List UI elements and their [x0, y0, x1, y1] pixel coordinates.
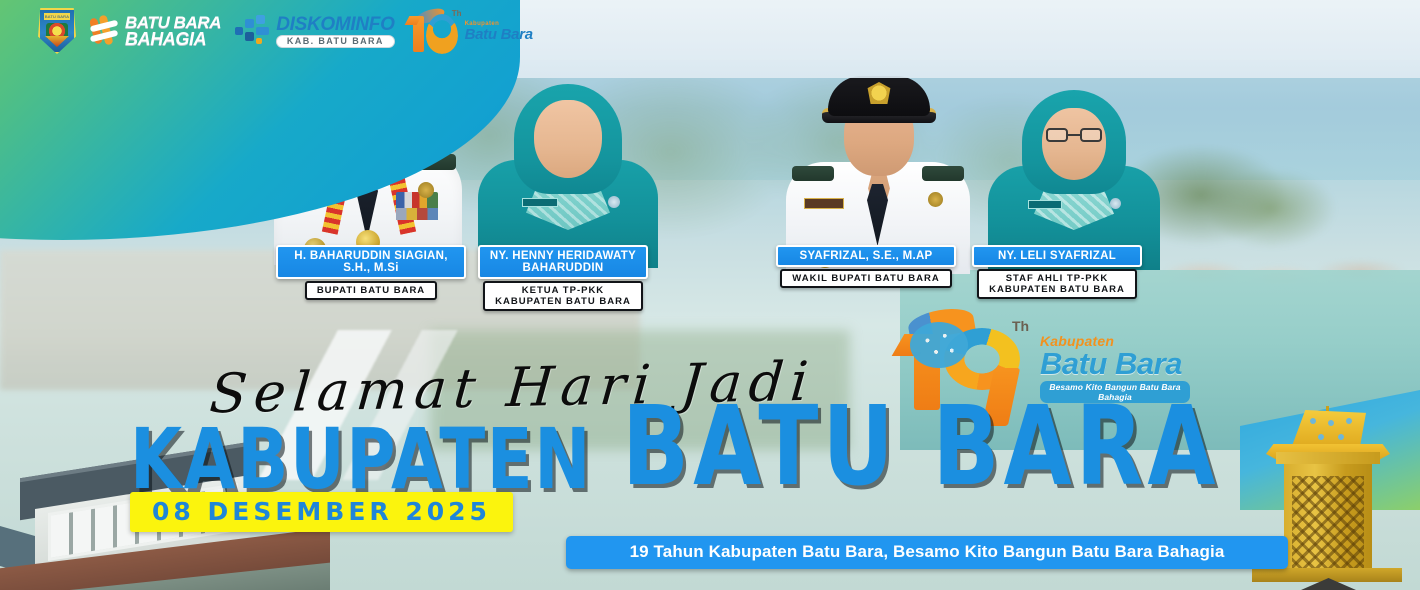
diskominfo-logo: DISKOMINFO KAB. BATU BARA [235, 15, 394, 48]
nameplate-bupati: H. BAHARUDDIN SIAGIAN, S.H., M.Si BUPATI… [276, 245, 466, 300]
official-name: NY. LELI SYAFRIZAL [972, 245, 1142, 267]
batu-bara-regency-crest-icon: BATU BARA [38, 8, 76, 54]
event-date-badge: 08 DESEMBER 2025 [130, 492, 513, 532]
official-role: BUPATI BATU BARA [305, 281, 437, 300]
number-19-icon: Th [409, 8, 461, 54]
bottom-tagline-text: 19 Tahun Kabupaten Batu Bara, Besamo Kit… [630, 542, 1225, 561]
crest-top-text: BATU BARA [44, 13, 70, 20]
official-role: WAKIL BUPATI BATU BARA [780, 269, 951, 288]
official-name: SYAFRIZAL, S.E., M.AP [776, 245, 956, 267]
official-role: KETUA TP-PKK KABUPATEN BATU BARA [483, 281, 643, 311]
bahagia-line2: BAHAGIA [125, 31, 221, 48]
header-logo-group: BATU BARA BATU BARA BAHAGIA DISKOMINF [38, 6, 533, 56]
diskominfo-title: DISKOMINFO [276, 15, 394, 34]
diskominfo-mark-icon [235, 15, 269, 47]
anniversary-banner: H. BAHARUDDIN SIAGIAN, S.H., M.Si BUPATI… [0, 0, 1420, 590]
nameplate-wakil-bupati: SYAFRIZAL, S.E., M.AP WAKIL BUPATI BATU … [776, 245, 956, 288]
headline-kabupaten: KABUPATEN [130, 418, 592, 500]
anniversary-region-label: Batu Bara [1040, 348, 1190, 380]
suffix-th: Th [452, 9, 462, 18]
bahagia-mark-icon [90, 15, 120, 47]
anniversary-suffix-th: Th [1012, 318, 1029, 334]
diskominfo-subtitle: KAB. BATU BARA [276, 35, 394, 48]
portrait-staf-ahli-tp-pkk [988, 88, 1160, 266]
anniversary-19-mini-logo: Th Kabupaten Batu Bara [409, 8, 533, 54]
nameplate-ketua-tp-pkk: NY. HENNY HERIDAWATY BAHARUDDIN KETUA TP… [478, 245, 648, 311]
official-name: NY. HENNY HERIDAWATY BAHARUDDIN [478, 245, 648, 279]
headline-batu-bara: BATU BARA [622, 404, 1220, 488]
header-bar: BATU BARA BATU BARA BAHAGIA DISKOMINF [0, 0, 1420, 78]
official-role: STAF AHLI TP-PKK KABUPATEN BATU BARA [977, 269, 1137, 299]
mini-region-label: Batu Bara [465, 27, 533, 42]
official-name: H. BAHARUDDIN SIAGIAN, S.H., M.Si [276, 245, 466, 279]
nameplate-staf-ahli: NY. LELI SYAFRIZAL STAF AHLI TP-PKK KABU… [972, 245, 1142, 299]
glasses-icon [1046, 128, 1102, 142]
portrait-ketua-tp-pkk [478, 78, 658, 263]
batik-pattern-icon [910, 322, 968, 368]
batu-bara-bahagia-logo: BATU BARA BAHAGIA [90, 15, 221, 47]
portrait-wakil-bupati [782, 70, 974, 265]
bottom-tagline-bar: 19 Tahun Kabupaten Batu Bara, Besamo Kit… [566, 536, 1288, 569]
main-headline: KABUPATENBATU BARA [130, 418, 1310, 500]
event-date-text: 08 DESEMBER 2025 [152, 497, 491, 526]
